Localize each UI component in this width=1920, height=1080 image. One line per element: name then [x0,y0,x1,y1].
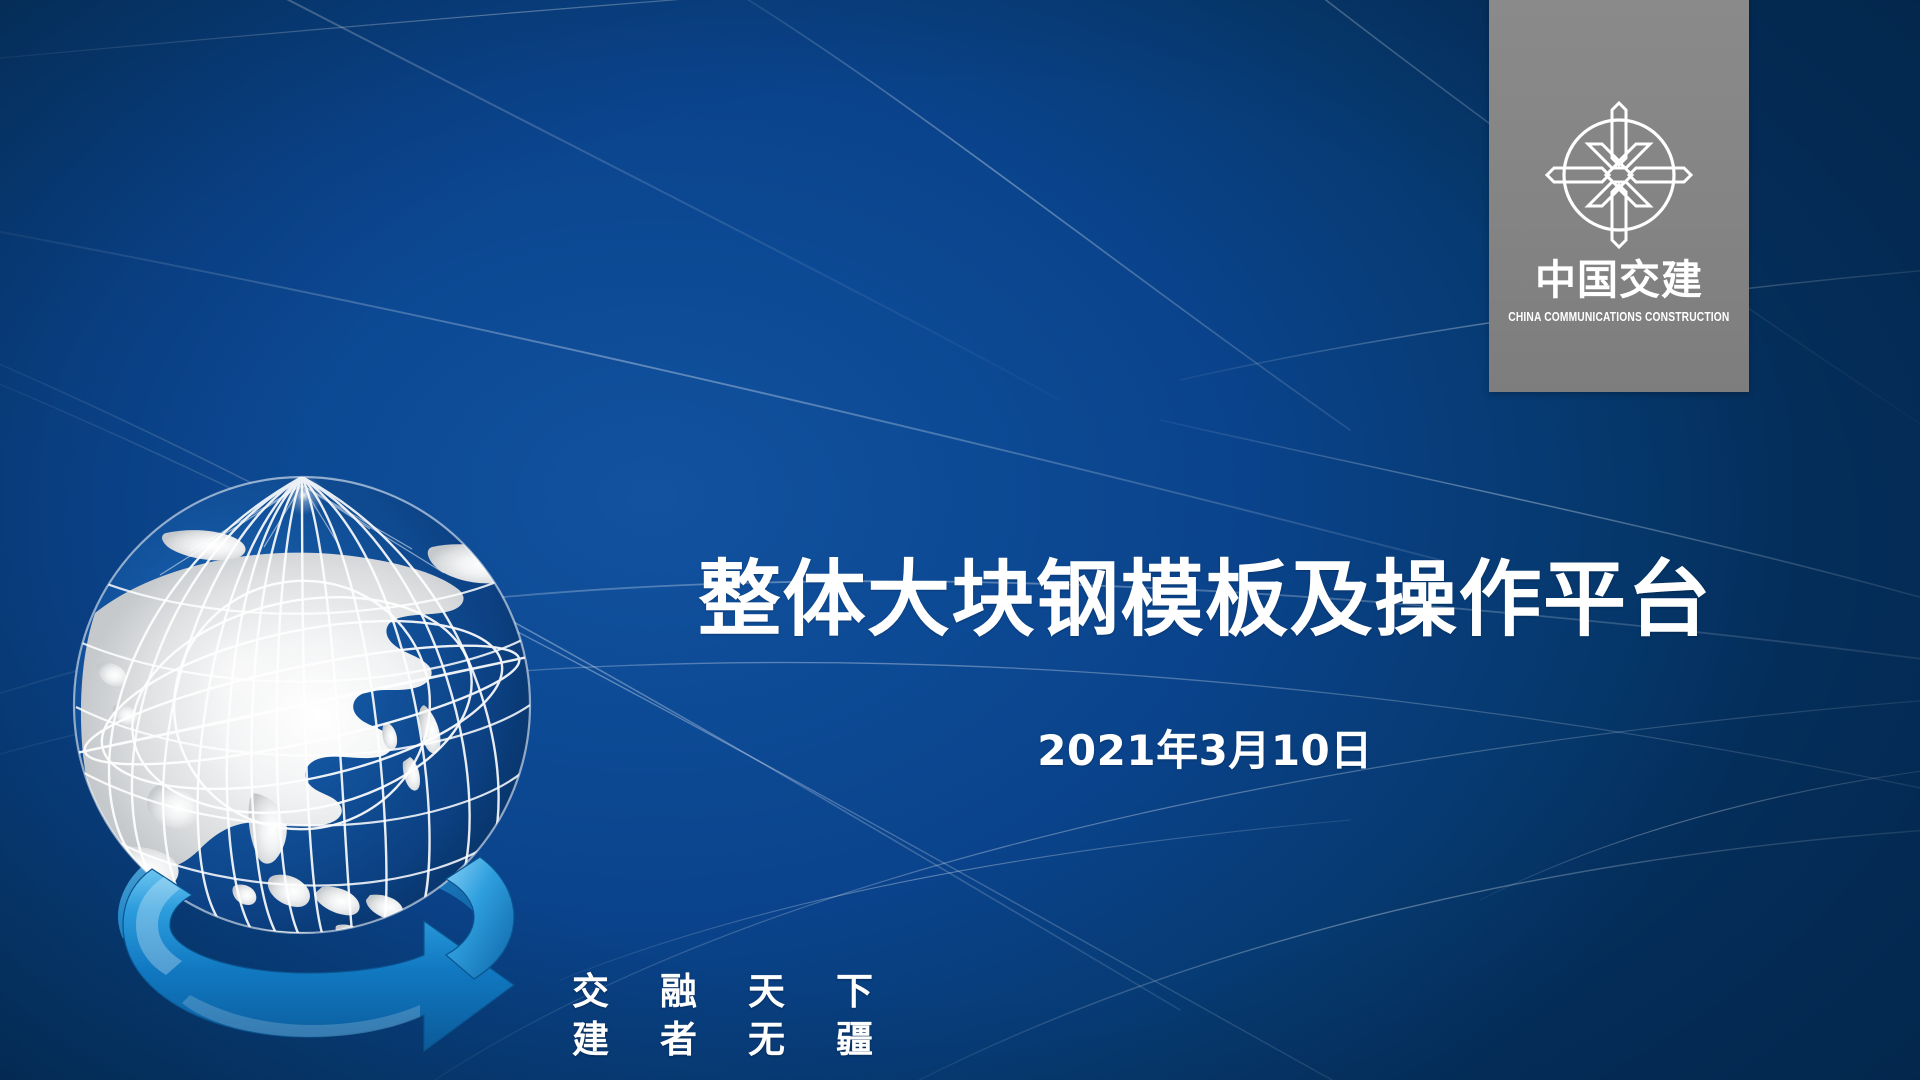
logo-english-name: CHINA COMMUNICATIONS CONSTRUCTION [1508,310,1729,324]
globe-graphic [40,455,620,1055]
slide-date: 2021年3月10日 [640,717,1770,778]
slogan-line-2: 建者无疆 [572,1016,924,1064]
slogan-line-1: 交融天下 [572,968,924,1016]
company-logo-panel: 中国交建 CHINA COMMUNICATIONS CONSTRUCTION [1489,0,1749,392]
company-slogan: 交融天下 建者无疆 [572,968,924,1064]
title-block: 整体大块钢模板及操作平台 2021年3月10日 [640,555,1770,778]
ccc-compass-emblem-icon [1544,100,1694,250]
logo-chinese-name: 中国交建 [1535,260,1703,301]
page-title: 整体大块钢模板及操作平台 [640,555,1770,645]
globe-with-arrow-icon [40,455,620,1055]
presentation-slide: 中国交建 CHINA COMMUNICATIONS CONSTRUCTION 整… [0,0,1920,1080]
